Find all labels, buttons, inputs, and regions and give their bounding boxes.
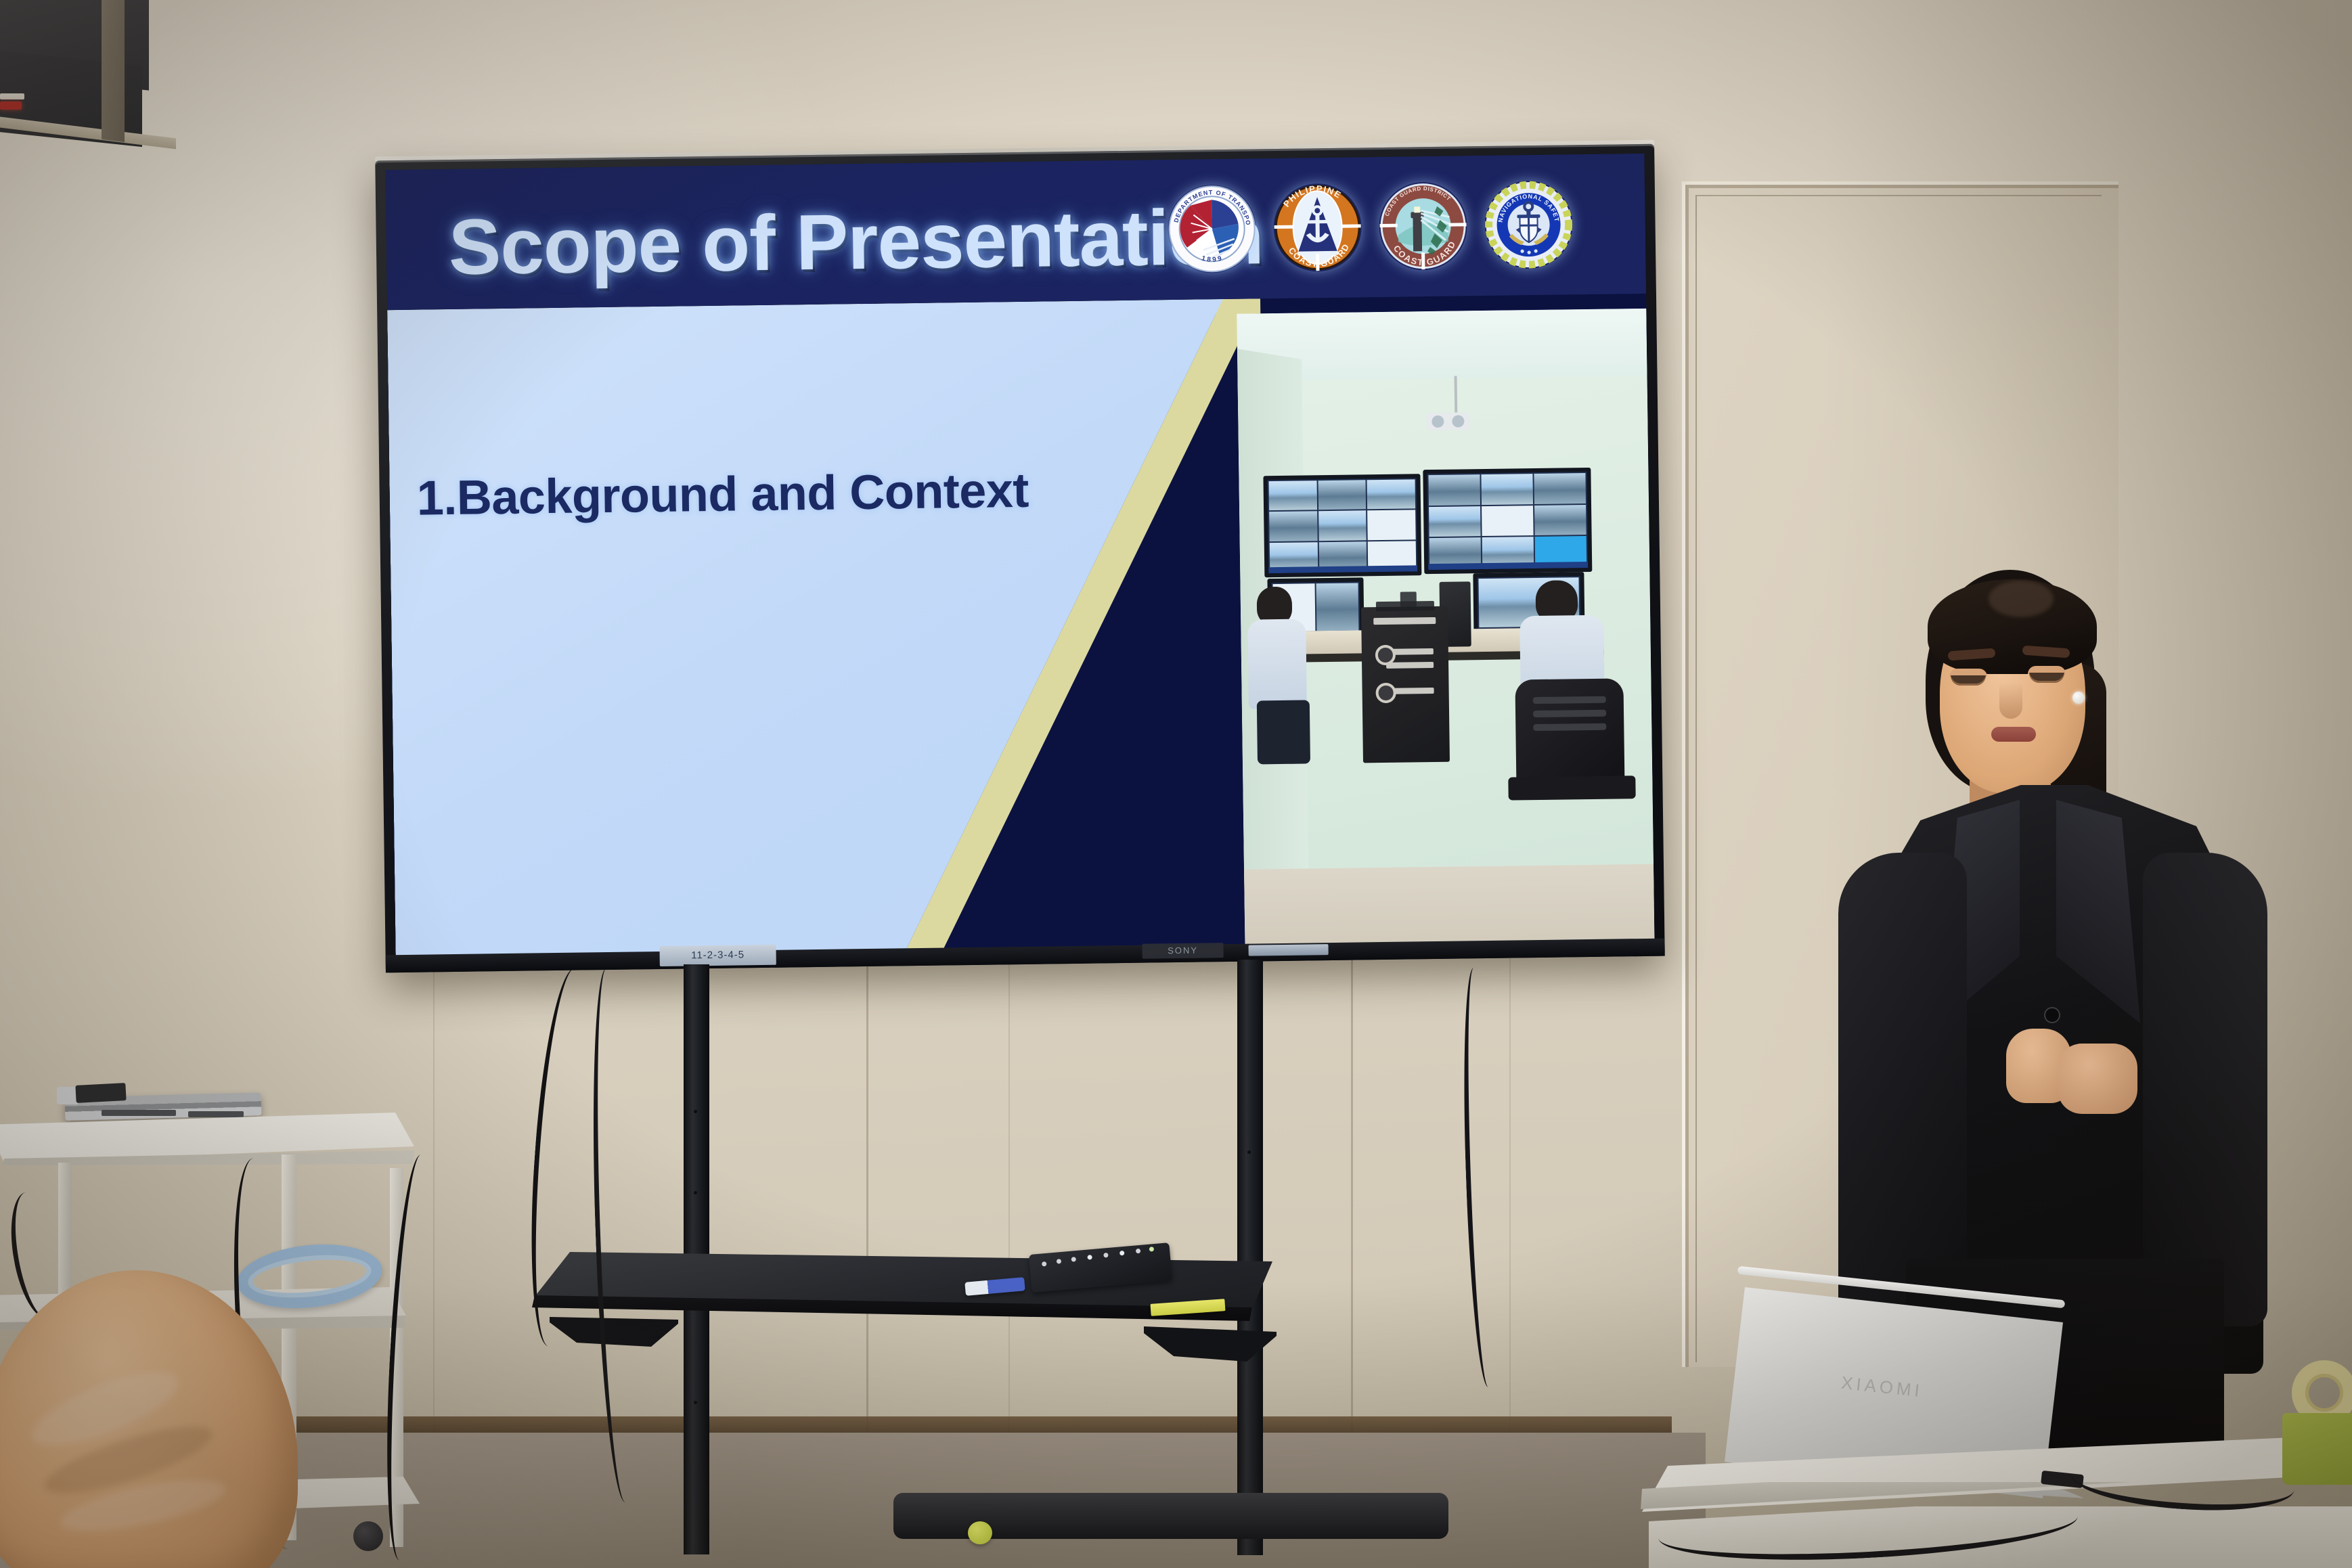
photo-office-chair [1515,678,1624,788]
photo-video-wall-left [1263,474,1421,577]
photo-operator-shirt [1247,619,1307,709]
photo-taskbar [1268,565,1417,573]
photo-chair-rib [1533,696,1606,704]
presenter-eye-right [2029,673,2064,683]
wall-mounted-television[interactable]: Scope of Presentation [375,144,1665,973]
presenter-arm-right [2143,853,2267,1326]
ceiling-unit-red-indicator-icon [0,102,22,110]
tape-dispenser-body [2282,1413,2352,1485]
presenter-eye-left [1951,675,1986,686]
slide-body: 1.Background and Context [387,294,1654,956]
green-tape-dispenser[interactable] [2282,1360,2352,1482]
tv-stand-post-hole [694,1110,697,1113]
presenter-nose [1999,682,2022,719]
laptop-port-row [188,1111,244,1117]
photo-rack-camera-mount [1400,591,1417,606]
photo-cctv-tile [1269,512,1317,541]
photo-cctv-tile [1534,473,1586,504]
photo-cctv-tile [1429,506,1481,537]
tv-stand-post-hole [694,1401,697,1404]
ceiling-unit-strip [0,93,24,99]
photo-camera-lens-icon [1432,416,1444,428]
photo-cctv-tile [1318,480,1366,510]
photo-monitor-pane [1316,583,1359,631]
tv-stand-post-right [1237,960,1263,1555]
presenter-hair-part [1989,581,2054,617]
photo-equipment-rack [1361,606,1450,763]
tv-screen: Scope of Presentation [385,154,1654,956]
department-of-transportation-seal-icon: DEPARTMENT OF TRANSPORTATION 1899 [1168,184,1257,273]
photo-scene: Scope of Presentation [0,0,2352,1568]
laptop-port-row [102,1110,176,1116]
tv-stand-post-hole [694,1191,697,1194]
coast-guard-district-seal-icon: COAST GUARD DISTRICT COAST GUARD [1379,181,1468,271]
photo-cctv-tile [1269,480,1317,510]
laptop-power-adapter-plug [75,1083,126,1103]
presenter-hand-right [2058,1044,2137,1114]
tv-ir-sensor-icon [1249,944,1329,956]
agency-logo-row: DEPARTMENT OF TRANSPORTATION 1899 [1167,160,1588,294]
photo-cctv-tile [1482,506,1534,537]
ceiling-unit-frame [102,0,125,142]
navigational-safety-service-seal-icon: NAVIGATIONAL SAFETY SERVICE [1484,180,1574,269]
photo-taskbar [1428,562,1588,570]
presentation-slide: Scope of Presentation [385,154,1654,956]
photo-cctv-tile [1318,511,1367,541]
photo-chair-rib [1533,723,1606,731]
photo-cctv-tile [1367,510,1415,540]
slide-content-area: 1.Background and Context [387,299,1232,956]
presenter-earring [2072,692,2085,704]
tv-stand-post-hole [1247,1150,1251,1154]
presenter-arm-left [1838,853,1967,1326]
photo-chair-rib [1533,710,1606,717]
photo-camera-lens-icon [1452,415,1464,427]
photo-cctv-tile [1428,474,1480,506]
tv-inventory-label: 11-2-3-4-5 [659,945,776,966]
photo-video-wall-right [1423,468,1592,574]
photo-rack-slot [1373,617,1436,625]
philippine-coast-guard-seal-icon: PHILIPPINE COAST GUARD [1273,183,1362,272]
photo-chair-base [1508,776,1635,800]
slide-bullet-1: 1.Background and Context [416,463,1029,527]
photo-rack-slot [1386,662,1434,669]
presenter-blazer-button [2045,1008,2059,1022]
photo-cctv-tile [1481,474,1533,505]
tv-brand-badge: SONY [1142,943,1223,959]
presenter [1807,562,2301,1374]
photo-operator-pants [1257,700,1310,764]
tennis-ball[interactable] [968,1521,992,1544]
photo-cctv-tile [1367,479,1415,509]
coast-guard-monitoring-control-room-photo [1237,309,1654,956]
slide-title: Scope of Presentation [448,191,1264,292]
utility-cart-caster-wheel [353,1521,383,1551]
photo-cctv-tile [1534,505,1587,536]
presenter-lips [1991,727,2036,742]
